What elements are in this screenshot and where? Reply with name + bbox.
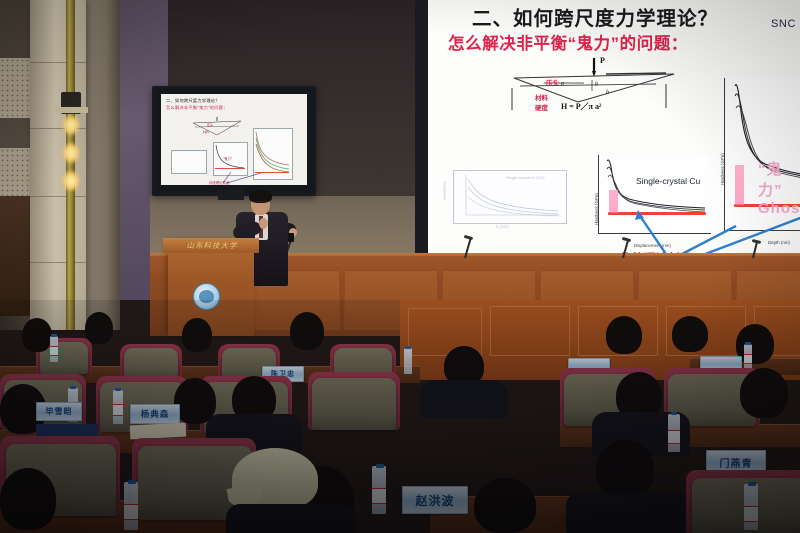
bottle-label — [744, 354, 752, 364]
audience-head — [182, 318, 212, 352]
presentation-clicker — [288, 233, 294, 242]
monitor-stand — [218, 190, 244, 200]
speaker-glasses — [252, 201, 269, 205]
slide-heading-main: 二、如何跨尺度力学理论？ — [472, 2, 718, 31]
audience-shoulders — [226, 504, 356, 533]
wall-pilaster — [30, 0, 86, 330]
indenter-label: 压头 — [546, 77, 559, 87]
audience-head — [740, 368, 788, 418]
bottle-cap — [671, 412, 677, 415]
indenter-schematic: P 压头 a θ h 材料 硬度 H = P／π a² — [506, 58, 681, 114]
placard-name: 门燕青 — [720, 455, 753, 470]
wall-sconce-plate — [55, 107, 88, 113]
audience-head — [22, 318, 52, 352]
wood-wall-panel — [490, 306, 570, 356]
bottle-label — [50, 346, 58, 356]
handout — [130, 423, 187, 440]
callout-arrows — [618, 196, 800, 260]
bottle-label — [372, 488, 386, 504]
chart-left-ylabel: Hardness — [442, 181, 447, 200]
monitor-heading-sub: 怎么解决非平衡“鬼力”的问题： — [166, 105, 228, 111]
bottle-label — [744, 506, 758, 522]
university-seal-icon — [193, 283, 220, 310]
chart-left-caption: Single-crystal Al (110) — [506, 175, 545, 180]
monitor-callout-arrows — [201, 170, 271, 184]
bottle-cap — [70, 386, 76, 389]
lecture-hall-photo: 二、如何跨尺度力学理论？ 怎么解决非平衡“鬼力”的问题： 压头 材料 — [0, 0, 800, 533]
audience-head — [290, 312, 324, 350]
placard-name: 杨典森 — [141, 408, 170, 420]
hardness-label: 硬度 — [535, 102, 548, 112]
water-bottle — [404, 348, 412, 374]
indenter-load-label: P — [600, 56, 605, 65]
chart-center-caption: Single-crystal Cu — [636, 176, 700, 186]
name-placard: 毕雪皑 — [36, 402, 82, 421]
chart-left-xlabel: h (nm) — [496, 224, 509, 229]
indenter-depth-marker: h — [606, 90, 609, 96]
decorative-gold-strip — [66, 0, 75, 330]
conference-folder — [36, 424, 98, 436]
bottle-cap — [405, 346, 411, 349]
monitor-heading-main: 二、如何跨尺度力学理论？ — [166, 98, 220, 104]
monitor-screen: 二、如何跨尺度力学理论？ 怎么解决非平衡“鬼力”的问题： 压头 材料 — [161, 94, 307, 185]
pilaster-seam — [30, 262, 86, 263]
audience-head — [474, 478, 536, 533]
material-label: 材料 — [535, 92, 548, 102]
bottle-label — [124, 504, 138, 520]
audience-shoulders — [566, 492, 692, 533]
pilaster-seam — [30, 196, 86, 197]
indenter-width-marker: a — [561, 81, 564, 87]
sconce-light-glow — [62, 170, 80, 192]
name-placard: 赵洪波 — [402, 486, 468, 514]
svg-text:压头: 压头 — [207, 122, 213, 127]
monitor-ghost-note: “鬼力” — [223, 156, 232, 161]
placard-name: 赵洪波 — [415, 492, 454, 509]
svg-text:材料: 材料 — [203, 129, 209, 134]
indenter-angle-marker: θ — [595, 82, 598, 88]
bottle-cap — [376, 464, 384, 468]
bottle-cap — [128, 480, 136, 484]
speaker-left-hand — [259, 218, 268, 229]
bottle-cap — [115, 388, 121, 391]
chart-right-caption: SNC — [771, 18, 796, 30]
sconce-light-glow — [62, 142, 80, 164]
projection-screen: 二、如何跨尺度力学理论？ 怎么解决非平衡“鬼力”的问题： P 压头 a θ h … — [428, 0, 800, 272]
placard-name: 毕雪皑 — [46, 406, 73, 417]
audience-head — [0, 468, 56, 530]
acoustic-grille-lower — [0, 148, 34, 198]
bottle-cap — [51, 334, 57, 337]
bottle-label — [113, 404, 123, 416]
hardness-formula: H = P／π a² — [561, 101, 601, 112]
bottle-cap — [745, 342, 751, 345]
audience-head — [85, 312, 113, 344]
audience-shoulders — [420, 380, 508, 418]
acoustic-grille-upper — [0, 58, 34, 118]
confidence-monitor[interactable]: 二、如何跨尺度力学理论？ 怎么解决非平衡“鬼力”的问题： 压头 材料 — [152, 86, 316, 196]
slide-heading-sub: 怎么解决非平衡“鬼力”的问题： — [448, 30, 688, 54]
audience-head — [672, 316, 708, 352]
podium-institution-name: 山东科技大学 — [176, 240, 248, 251]
monitor-indenter-diagram: 压头 材料 — [191, 117, 243, 139]
chair — [124, 348, 178, 378]
audience-head — [596, 440, 654, 498]
chart-right-ylabel: Hardness (GPa) — [720, 153, 725, 185]
sconce-light-glow — [62, 114, 80, 136]
bottle-label — [668, 430, 680, 444]
chart-center-gap-arrow — [609, 190, 618, 213]
name-placard: 杨典森 — [130, 404, 180, 424]
chair — [312, 378, 396, 430]
audience-head — [606, 316, 642, 354]
bottle-cap — [748, 482, 756, 486]
university-seal-inner — [199, 290, 214, 303]
pilaster-seam — [30, 62, 86, 63]
chart-center-ylabel: Hardness (GPa) — [594, 193, 599, 225]
